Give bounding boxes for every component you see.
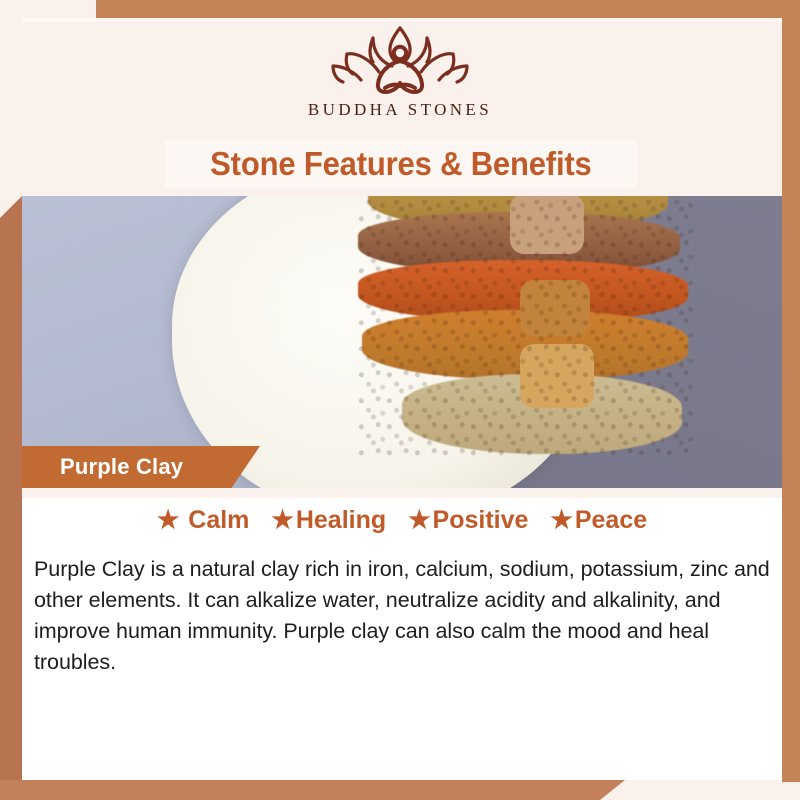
clay-powder-plate-photo [22, 196, 782, 488]
frame-left-bar [0, 196, 22, 782]
product-feature-card: BUDDHA STONES Stone Features & Benefits … [0, 0, 800, 800]
star-icon: ★ [408, 508, 430, 533]
benefit-item-peace: ★ Peace [550, 506, 647, 535]
benefit-item-healing: ★ Healing [271, 506, 386, 535]
title-banner: Stone Features & Benefits [165, 140, 637, 188]
benefit-label: Peace [575, 506, 647, 535]
frame-bottom-bar [0, 780, 625, 800]
product-name-tag: Purple Clay [22, 446, 260, 488]
frame-top-bar [96, 0, 800, 18]
product-description: Purple Clay is a natural clay rich in ir… [34, 554, 774, 678]
benefit-item-calm: ★ Calm [157, 506, 250, 535]
brand-logo-block: BUDDHA STONES [0, 22, 800, 138]
benefits-row: ★ Calm ★ Healing ★ Positive ★ Peace [22, 506, 782, 535]
star-icon: ★ [271, 508, 293, 533]
benefit-label: Healing [296, 506, 386, 535]
star-icon: ★ [550, 508, 572, 533]
benefit-label: Positive [433, 506, 529, 535]
product-name-label: Purple Clay [60, 454, 183, 480]
star-icon: ★ [157, 508, 179, 533]
benefit-label: Calm [188, 506, 249, 535]
sheet-top-strip [22, 488, 782, 498]
brand-wordmark: BUDDHA STONES [308, 100, 492, 120]
page-title: Stone Features & Benefits [210, 145, 591, 183]
white-plate [172, 196, 592, 488]
lotus-meditation-icon [315, 22, 485, 96]
powder-texture-overlay [358, 196, 694, 456]
benefit-item-positive: ★ Positive [408, 506, 528, 535]
sheet-bottom-fill [22, 684, 782, 780]
